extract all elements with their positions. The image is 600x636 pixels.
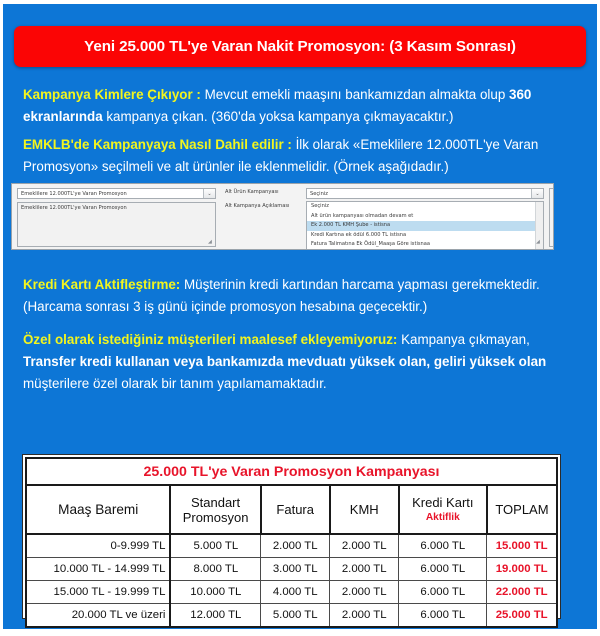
- chevron-down-icon-2[interactable]: ⌄: [531, 189, 543, 198]
- embedded-app-screenshot: Emeklilere 12.000TL'ye Varan Promosyon ⌄…: [11, 183, 554, 250]
- cell-toplam: 22.000 TL: [487, 581, 557, 604]
- cell-fatura: 5.000 TL: [261, 604, 330, 628]
- cell-fatura: 4.000 TL: [261, 581, 330, 604]
- promotion-table: 25.000 TL'ye Varan Promosyon Kampanyası …: [25, 457, 558, 628]
- paragraph-3-lead: Kredi Kartı Aktifleştirme:: [23, 277, 180, 292]
- cell-toplam: 25.000 TL: [487, 604, 557, 628]
- paragraph-1-tail: kampanya çıkan. (360'da yoksa kampanya ç…: [103, 109, 454, 124]
- dropdown-option-3[interactable]: Kredi Kartına ek ödül 6.000 TL istisna: [307, 231, 543, 241]
- table-row: 15.000 TL - 19.999 TL 10.000 TL 4.000 TL…: [26, 581, 557, 604]
- column-header-kmh: KMH: [330, 485, 399, 534]
- campaign-combo[interactable]: Emeklilere 12.000TL'ye Varan Promosyon ⌄: [17, 188, 216, 199]
- column-header-toplam: TOPLAM: [487, 485, 557, 534]
- column-header-standart-promosyon: Standart Promosyon: [170, 485, 260, 534]
- panel-resize-handle-icon[interactable]: ◢: [536, 240, 541, 245]
- table-header-row: Maaş Baremi Standart Promosyon Fatura KM…: [26, 485, 557, 534]
- dropdown-option-2[interactable]: Ek 2.000 TL KMH Şube - istisna: [307, 221, 543, 231]
- sub-campaign-description-label: Alt Kampanya Açıklaması: [225, 203, 289, 209]
- campaign-description-textarea[interactable]: Emeklilere 12.000TL'ye Varan Promosyon ◢: [17, 202, 216, 247]
- dropdown-option-1[interactable]: Alt ürün kampanyası olmadan devam et: [307, 212, 543, 222]
- cell-toplam: 19.000 TL: [487, 558, 557, 581]
- sub-product-combo[interactable]: Seçiniz ⌄: [306, 188, 544, 199]
- paragraph-4-lead: Özel olarak istediğiniz müşterileri maal…: [23, 332, 397, 347]
- column-header-fatura: Fatura: [261, 485, 330, 534]
- table-title: 25.000 TL'ye Varan Promosyon Kampanyası: [26, 458, 557, 485]
- cell-standart: 8.000 TL: [170, 558, 260, 581]
- paragraph-2-lead: EMKLB'de Kampanyaya Nasıl Dahil edilir :: [23, 137, 292, 152]
- paragraph-card-activation: Kredi Kartı Aktifleştirme: Müşterinin kr…: [23, 274, 583, 318]
- dropdown-option-4[interactable]: Fatura Talimatına Ek Ödül_Maaşa Göre ist…: [307, 240, 543, 250]
- cell-standart: 12.000 TL: [170, 604, 260, 628]
- table-row: 10.000 TL - 14.999 TL 8.000 TL 3.000 TL …: [26, 558, 557, 581]
- column-header-maas-baremi: Maaş Baremi: [26, 485, 170, 534]
- sub-product-label: Alt Ürün Kampanyası: [225, 189, 279, 195]
- paragraph-4-rest: Kampanya çıkmayan,: [397, 332, 529, 347]
- campaign-combo-value: Emeklilere 12.000TL'ye Varan Promosyon: [18, 191, 127, 197]
- column-header-kredi-karti-label: Kredi Kartı: [412, 495, 473, 510]
- paragraph-4-bold: Transfer kredi kullanan veya bankamızda …: [23, 354, 546, 369]
- cell-baremi: 20.000 TL ve üzeri: [26, 604, 170, 628]
- cell-toplam: 15.000 TL: [487, 534, 557, 558]
- paragraph-4-tail: müşterilere özel olarak bir tanım yapıla…: [23, 376, 327, 391]
- cell-standart: 10.000 TL: [170, 581, 260, 604]
- cell-kart: 6.000 TL: [399, 558, 487, 581]
- paragraph-how-to-add: EMKLB'de Kampanyaya Nasıl Dahil edilir :…: [23, 134, 583, 178]
- cell-kart: 6.000 TL: [399, 604, 487, 628]
- title-banner-wrap: Yeni 25.000 TL'ye Varan Nakit Promosyon:…: [14, 26, 586, 67]
- cell-fatura: 2.000 TL: [261, 534, 330, 558]
- dropdown-option-0[interactable]: Seçiniz: [307, 202, 543, 212]
- cell-kart: 6.000 TL: [399, 534, 487, 558]
- slide-canvas: Yeni 25.000 TL'ye Varan Nakit Promosyon:…: [3, 4, 597, 629]
- sub-product-combo-value: Seçiniz: [307, 191, 328, 197]
- page-title: Yeni 25.000 TL'ye Varan Nakit Promosyon:…: [84, 38, 516, 55]
- sub-product-dropdown-list[interactable]: Seçiniz Alt ürün kampanyası olmadan deva…: [306, 201, 544, 250]
- cell-fatura: 3.000 TL: [261, 558, 330, 581]
- cell-baremi: 0-9.999 TL: [26, 534, 170, 558]
- cell-baremi: 10.000 TL - 14.999 TL: [26, 558, 170, 581]
- table-row: 20.000 TL ve üzeri 12.000 TL 5.000 TL 2.…: [26, 604, 557, 628]
- cell-baremi: 15.000 TL - 19.999 TL: [26, 581, 170, 604]
- paragraph-1-rest: Mevcut emekli maaşını bankamızdan almakt…: [201, 87, 509, 102]
- cell-kmh: 2.000 TL: [330, 604, 399, 628]
- resize-handle-icon[interactable]: ◢: [208, 240, 213, 245]
- promotion-table-wrap: 25.000 TL'ye Varan Promosyon Kampanyası …: [22, 454, 561, 619]
- column-header-kredi-karti: Kredi Kartı Aktiflik: [399, 485, 487, 534]
- column-header-kredi-karti-sub: Aktiflik: [404, 510, 482, 525]
- cell-kart: 6.000 TL: [399, 581, 487, 604]
- paragraph-eligibility: Kampanya Kimlere Çıkıyor : Mevcut emekli…: [23, 84, 583, 128]
- paragraph-special-exclusion: Özel olarak istediğiniz müşterileri maal…: [23, 329, 583, 395]
- table-title-row: 25.000 TL'ye Varan Promosyon Kampanyası: [26, 458, 557, 485]
- paragraph-1-lead: Kampanya Kimlere Çıkıyor :: [23, 87, 201, 102]
- chevron-down-icon[interactable]: ⌄: [203, 189, 215, 198]
- cell-kmh: 2.000 TL: [330, 534, 399, 558]
- cell-kmh: 2.000 TL: [330, 581, 399, 604]
- right-panel-strip: [549, 188, 554, 247]
- table-row: 0-9.999 TL 5.000 TL 2.000 TL 2.000 TL 6.…: [26, 534, 557, 558]
- cell-standart: 5.000 TL: [170, 534, 260, 558]
- title-banner: Yeni 25.000 TL'ye Varan Nakit Promosyon:…: [14, 26, 586, 67]
- campaign-description-value: Emeklilere 12.000TL'ye Varan Promosyon: [18, 203, 215, 211]
- cell-kmh: 2.000 TL: [330, 558, 399, 581]
